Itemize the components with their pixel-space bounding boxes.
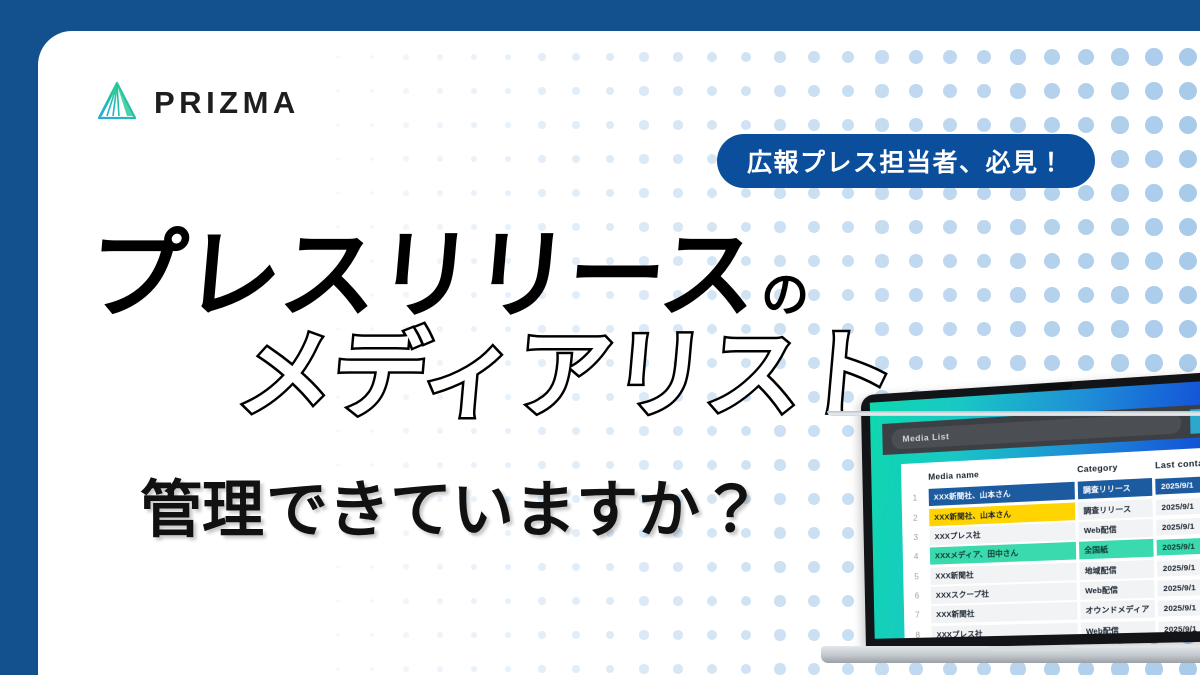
cell-media-name: XXXプレス社	[931, 623, 1077, 639]
background-dot	[774, 119, 785, 130]
background-dot	[1179, 320, 1197, 338]
background-dot	[538, 631, 545, 638]
background-dot	[606, 597, 615, 606]
background-dot	[741, 596, 752, 607]
background-dot	[808, 119, 820, 131]
background-dot	[1111, 252, 1128, 269]
background-dot	[370, 463, 375, 468]
background-dot	[639, 664, 648, 673]
background-dot	[437, 462, 443, 468]
background-dot	[471, 156, 477, 162]
cell-category: Web配信	[1080, 621, 1155, 639]
background-dot	[538, 563, 545, 570]
background-dot	[774, 187, 785, 198]
background-dot	[1111, 82, 1128, 99]
background-dot	[1179, 184, 1197, 202]
background-dot	[336, 123, 340, 127]
background-dot	[370, 633, 375, 638]
background-dot	[943, 220, 957, 234]
background-dot	[1179, 116, 1197, 134]
background-dot	[1044, 253, 1060, 269]
background-dot	[842, 119, 855, 132]
background-dot	[1179, 82, 1197, 100]
background-dot	[741, 188, 752, 199]
background-dot	[1078, 287, 1094, 303]
background-dot	[639, 188, 648, 197]
background-dot	[1179, 354, 1197, 372]
background-dot	[538, 121, 545, 128]
background-dot	[875, 288, 888, 301]
row-index: 1	[909, 488, 928, 508]
background-dot	[808, 221, 820, 233]
background-dot	[572, 121, 580, 129]
background-dot	[1111, 218, 1128, 235]
background-dot	[909, 288, 923, 302]
background-dot	[1179, 252, 1197, 270]
background-dot	[741, 664, 752, 675]
background-dot	[1078, 117, 1094, 133]
background-dot	[538, 87, 545, 94]
cell-category: 地域配信	[1079, 560, 1154, 580]
background-dot	[943, 356, 957, 370]
background-dot	[808, 459, 820, 471]
background-dot	[606, 631, 615, 640]
background-dot	[808, 527, 820, 539]
background-dot	[808, 85, 820, 97]
background-dot	[673, 630, 683, 640]
row-index: 6	[912, 586, 931, 606]
background-dot	[977, 118, 992, 133]
background-dot	[673, 664, 683, 674]
background-dot	[943, 118, 957, 132]
background-dot	[741, 120, 752, 131]
background-dot	[808, 493, 820, 505]
background-dot	[505, 666, 512, 673]
background-dot	[774, 493, 785, 504]
background-dot	[1044, 83, 1060, 99]
slide-canvas: PRIZMA 広報プレス担当者、必見！ プレスリリース の メディアリスト 管理…	[0, 0, 1200, 675]
background-dot	[909, 254, 923, 268]
background-dot	[808, 255, 820, 267]
background-dot	[774, 459, 785, 470]
background-dot	[774, 629, 785, 640]
background-dot	[1111, 354, 1128, 371]
background-dot	[606, 461, 615, 470]
background-dot	[1010, 253, 1025, 268]
headline-line-1: プレスリリース の	[88, 227, 809, 325]
cell-media-name: XXX新聞社	[931, 602, 1077, 623]
background-dot	[1044, 117, 1060, 133]
background-dot	[572, 631, 580, 639]
background-dot	[403, 54, 408, 59]
background-dot	[639, 86, 648, 95]
background-dot	[1111, 286, 1128, 303]
search-input[interactable]: Media List	[891, 412, 1181, 449]
background-dot	[606, 155, 615, 164]
background-dot	[875, 118, 888, 131]
background-dot	[808, 289, 820, 301]
background-dot	[1179, 218, 1197, 236]
background-dot	[336, 463, 340, 467]
row-index: 2	[910, 507, 929, 527]
background-dot	[707, 120, 717, 130]
background-dot	[909, 186, 923, 200]
background-dot	[370, 565, 375, 570]
background-dot	[977, 322, 992, 337]
background-dot	[572, 87, 580, 95]
cell-last-contact: 2025/9/1	[1158, 599, 1200, 617]
cell-category: オウンドメディア	[1080, 600, 1155, 620]
app-search-bar: Media List Search	[882, 401, 1200, 455]
prizma-prism-icon	[94, 79, 140, 125]
background-dot	[1145, 320, 1163, 338]
background-dot	[505, 88, 512, 95]
background-dot	[1010, 83, 1025, 98]
background-dot	[403, 122, 408, 127]
background-dot	[1044, 355, 1060, 371]
background-dot	[808, 595, 820, 607]
background-dot	[606, 563, 615, 572]
white-content-card: PRIZMA 広報プレス担当者、必見！ プレスリリース の メディアリスト 管理…	[38, 31, 1200, 675]
background-dot	[943, 84, 957, 98]
background-dot	[909, 322, 923, 336]
background-dot	[1010, 117, 1025, 132]
background-dot	[505, 54, 512, 61]
background-dot	[909, 356, 923, 370]
background-dot	[1010, 355, 1025, 370]
background-dot	[336, 89, 340, 93]
background-dot	[875, 220, 888, 233]
laptop-base-foot	[827, 411, 1200, 416]
cell-last-contact: 2025/9/1	[1155, 476, 1200, 495]
background-dot	[572, 597, 580, 605]
background-dot	[639, 630, 648, 639]
background-dot	[403, 632, 408, 637]
background-dot	[538, 665, 545, 672]
background-dot	[808, 51, 820, 63]
background-dot	[842, 85, 855, 98]
background-dot	[808, 561, 820, 573]
cell-category: Web配信	[1080, 580, 1155, 600]
background-dot	[774, 663, 785, 674]
background-dot	[639, 154, 648, 163]
background-dot	[1145, 116, 1163, 134]
background-dot	[336, 55, 340, 59]
cell-last-contact: 2025/9/1	[1157, 538, 1200, 556]
background-dot	[437, 598, 443, 604]
headline-question-text: できていますか？	[266, 475, 762, 544]
background-dot	[842, 51, 855, 64]
background-dot	[909, 118, 923, 132]
cell-category: 調査リリース	[1078, 499, 1153, 520]
background-dot	[336, 565, 340, 569]
background-dot	[336, 633, 340, 637]
background-dot	[370, 599, 375, 604]
background-dot	[774, 561, 785, 572]
background-dot	[1078, 185, 1094, 201]
table-body: 1XXX新聞社、山本さん調査リリース2025/9/12XXX新聞社、山本さん調査…	[909, 473, 1200, 638]
background-dot	[1145, 184, 1163, 202]
background-dot	[505, 156, 512, 163]
background-dot	[403, 190, 408, 195]
background-dot	[1111, 116, 1128, 133]
background-dot	[1145, 82, 1163, 100]
background-dot	[336, 191, 340, 195]
background-dot	[707, 664, 717, 674]
background-dot	[1145, 218, 1163, 236]
background-dot	[471, 462, 477, 468]
background-dot	[639, 562, 648, 571]
background-dot	[606, 87, 615, 96]
background-dot	[572, 461, 580, 469]
background-dot	[572, 155, 580, 163]
background-dot	[505, 564, 512, 571]
background-dot	[673, 120, 683, 130]
background-dot	[977, 84, 992, 99]
background-dot	[606, 189, 615, 198]
background-dot	[1044, 219, 1060, 235]
background-dot	[707, 188, 717, 198]
row-index: 7	[912, 605, 931, 625]
background-dot	[471, 666, 477, 672]
background-dot	[1010, 321, 1025, 336]
background-dot	[1111, 150, 1128, 167]
row-index: 3	[910, 527, 929, 547]
background-dot	[1010, 219, 1025, 234]
brand-logo: PRIZMA	[94, 79, 300, 125]
background-dot	[707, 630, 717, 640]
media-list-table: Media name Category Last contact 1XXX新聞社…	[909, 458, 1200, 639]
background-dot	[842, 289, 855, 302]
background-dot	[741, 630, 752, 641]
background-dot	[1078, 355, 1094, 371]
background-dot	[437, 54, 443, 60]
background-dot	[1078, 253, 1094, 269]
background-dot	[741, 52, 752, 63]
background-dot	[977, 254, 992, 269]
background-dot	[403, 666, 408, 671]
background-dot	[842, 255, 855, 268]
laptop-base-notch	[989, 646, 1071, 651]
background-dot	[1010, 49, 1025, 64]
background-dot	[909, 50, 923, 64]
background-dot	[774, 595, 785, 606]
background-dot	[707, 596, 717, 606]
background-dot	[505, 632, 512, 639]
background-dot	[1145, 150, 1163, 168]
background-dot	[370, 123, 375, 128]
background-dot	[403, 564, 408, 569]
laptop-base	[821, 646, 1200, 663]
background-dot	[875, 50, 888, 63]
background-dot	[471, 88, 477, 94]
background-dot	[875, 84, 888, 97]
background-dot	[1044, 287, 1060, 303]
background-dot	[1010, 287, 1025, 302]
background-dot	[1078, 49, 1094, 65]
row-index: 5	[911, 566, 930, 586]
background-dot	[673, 562, 683, 572]
background-dot	[572, 563, 580, 571]
background-dot	[538, 155, 545, 162]
background-dot	[808, 663, 820, 675]
background-dot	[977, 356, 992, 371]
background-dot	[943, 186, 957, 200]
cell-last-contact: 2025/9/1	[1156, 497, 1200, 516]
background-dot	[707, 460, 717, 470]
headline-line-3: 管理できていますか？	[138, 475, 762, 544]
background-dot	[909, 84, 923, 98]
background-dot	[707, 154, 717, 164]
background-dot	[639, 120, 648, 129]
background-dot	[1145, 48, 1163, 66]
background-dot	[403, 598, 408, 603]
background-dot	[471, 54, 477, 60]
background-dot	[370, 157, 375, 162]
background-dot	[1111, 320, 1128, 337]
background-dot	[538, 597, 545, 604]
background-dot	[336, 599, 340, 603]
background-dot	[538, 461, 545, 468]
background-dot	[1145, 286, 1163, 304]
background-dot	[606, 121, 615, 130]
background-dot	[741, 86, 752, 97]
headline-highlighted-word: 管理	[138, 475, 266, 544]
brand-wordmark: PRIZMA	[154, 87, 300, 118]
background-dot	[673, 86, 683, 96]
background-dot	[370, 89, 375, 94]
laptop-screen: Media List Search Media name Category La…	[870, 378, 1200, 639]
headline-solid-text: プレスリリース	[84, 227, 760, 325]
row-index: 8	[912, 625, 931, 639]
background-dot	[943, 322, 957, 336]
background-dot	[606, 53, 615, 62]
background-dot	[1044, 321, 1060, 337]
background-dot	[437, 122, 443, 128]
background-dot	[471, 632, 477, 638]
background-dot	[370, 191, 375, 196]
cell-last-contact: 2025/9/1	[1157, 558, 1200, 576]
background-dot	[505, 190, 512, 197]
background-dot	[707, 562, 717, 572]
background-dot	[909, 220, 923, 234]
column-header-index	[909, 473, 928, 489]
headline-line-2-outline: メディアリスト	[234, 327, 901, 423]
background-dot	[606, 665, 615, 674]
background-dot	[403, 462, 408, 467]
background-dot	[875, 186, 888, 199]
background-dot	[673, 188, 683, 198]
background-dot	[1145, 252, 1163, 270]
laptop-mockup: Media List Search Media name Category La…	[821, 395, 1200, 675]
background-dot	[673, 52, 683, 62]
background-dot	[943, 288, 957, 302]
background-dot	[1078, 219, 1094, 235]
background-dot	[1179, 48, 1197, 66]
background-dot	[639, 596, 648, 605]
background-dot	[977, 50, 992, 65]
background-dot	[437, 564, 443, 570]
background-dot	[505, 122, 512, 129]
background-dot	[842, 221, 855, 234]
background-dot	[471, 190, 477, 196]
background-dot	[538, 53, 545, 60]
background-dot	[943, 50, 957, 64]
background-dot	[774, 527, 785, 538]
background-dot	[1179, 286, 1197, 304]
background-dot	[943, 254, 957, 268]
background-dot	[639, 52, 648, 61]
background-dot	[639, 460, 648, 469]
cell-last-contact: 2025/9/1	[1156, 517, 1200, 535]
background-dot	[741, 562, 752, 573]
background-dot	[505, 598, 512, 605]
row-index: 4	[911, 547, 930, 567]
background-dot	[572, 53, 580, 61]
background-dot	[875, 254, 888, 267]
media-list-panel: Media name Category Last contact 1XXX新聞社…	[901, 446, 1200, 638]
cell-category: 調査リリース	[1077, 478, 1152, 499]
status-badge: 広報プレス担当者、必見！	[717, 134, 1095, 188]
background-dot	[572, 665, 580, 673]
background-dot	[370, 667, 375, 672]
background-dot	[1078, 321, 1094, 337]
background-dot	[707, 52, 717, 62]
background-dot	[977, 220, 992, 235]
background-dot	[437, 190, 443, 196]
background-dot	[808, 187, 820, 199]
background-dot	[471, 122, 477, 128]
background-dot	[977, 288, 992, 303]
background-dot	[808, 629, 820, 641]
background-dot	[673, 460, 683, 470]
background-dot	[403, 88, 408, 93]
background-dot	[336, 667, 340, 671]
background-dot	[572, 189, 580, 197]
background-dot	[1111, 184, 1128, 201]
background-dot	[1111, 48, 1128, 65]
background-dot	[437, 156, 443, 162]
background-dot	[437, 632, 443, 638]
background-dot	[1078, 83, 1094, 99]
background-dot	[471, 564, 477, 570]
headline-particle: の	[761, 271, 809, 319]
background-dot	[370, 55, 375, 60]
cell-last-contact: 2025/9/1	[1158, 620, 1200, 637]
background-dot	[774, 85, 785, 96]
background-dot	[673, 596, 683, 606]
background-dot	[842, 187, 855, 200]
background-dot	[1145, 354, 1163, 372]
background-dot	[336, 157, 340, 161]
background-dot	[673, 154, 683, 164]
cell-category: 全国紙	[1079, 539, 1154, 560]
cell-last-contact: 2025/9/1	[1158, 579, 1200, 597]
background-dot	[1044, 49, 1060, 65]
search-button[interactable]: Search	[1190, 406, 1200, 434]
background-dot	[741, 460, 752, 471]
background-dot	[403, 156, 408, 161]
background-dot	[774, 51, 785, 62]
background-dot	[1179, 150, 1197, 168]
background-dot	[505, 462, 512, 469]
background-dot	[538, 189, 545, 196]
background-dot	[437, 88, 443, 94]
cell-category: Web配信	[1078, 519, 1153, 540]
background-dot	[471, 598, 477, 604]
background-dot	[437, 666, 443, 672]
background-dot	[707, 86, 717, 96]
